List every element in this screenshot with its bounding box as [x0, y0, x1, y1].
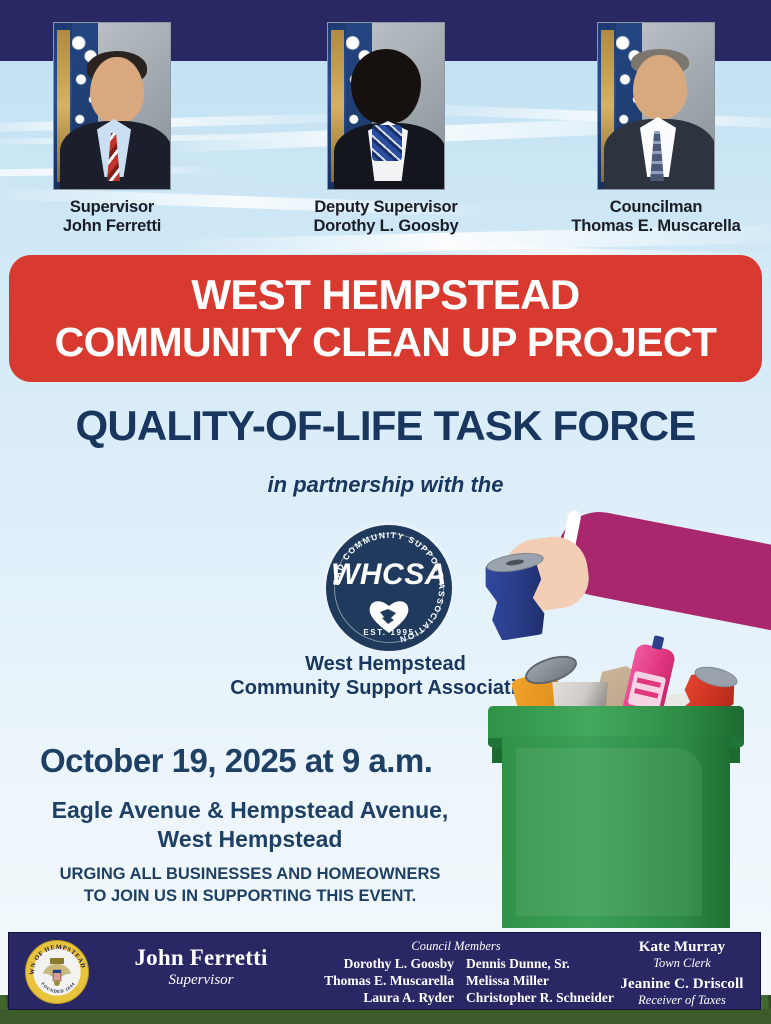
event-date: October 19, 2025 at 9 a.m. [40, 742, 432, 780]
banner-line-1: WEST HEMPSTEAD [191, 271, 579, 319]
official-label: Councilman Thomas E. Muscarella [556, 198, 756, 236]
logo-established: EST. 1995 [323, 628, 455, 637]
green-bin-body [502, 736, 730, 928]
portrait-thomas-muscarella [597, 22, 715, 190]
table-row: Thomas E. Muscarella Melissa Miller [291, 972, 621, 989]
taskforce-heading: QUALITY-OF-LIFE TASK FORCE [0, 402, 771, 450]
eagle-crest-icon [40, 955, 74, 989]
footer-supervisor-name: John Ferretti [101, 945, 301, 971]
official-title: Deputy Supervisor [294, 198, 478, 217]
clerk-title: Town Clerk [605, 956, 759, 971]
portrait-dorothy-goosby [327, 22, 445, 190]
bottle-label [627, 671, 666, 711]
clerk-title: Receiver of Taxes [605, 993, 759, 1008]
event-address: Eagle Avenue & Hempstead Avenue, West He… [20, 796, 480, 855]
council-member: Dennis Dunne, Sr. [456, 955, 621, 972]
poster-flyer: Supervisor John Ferretti Deputy Supervis… [0, 0, 771, 1024]
official-label: Deputy Supervisor Dorothy L. Goosby [294, 198, 478, 236]
address-line-1: Eagle Avenue & Hempstead Avenue, [20, 796, 480, 825]
town-footer-bar: TOWN OF HEMPSTEAD N.Y. FOUNDED 1644 John… [8, 932, 761, 1010]
official-name: Thomas E. Muscarella [556, 217, 756, 236]
hand-dropping-can-illustration [466, 498, 771, 928]
logo-monogram: WHCSA [323, 558, 455, 592]
table-row: Dorothy L. Goosby Dennis Dunne, Sr. [291, 955, 621, 972]
clerk-name: Kate Murray [605, 939, 759, 956]
cta-line-1: URGING ALL BUSINESSES AND HOMEOWNERS [20, 864, 480, 886]
event-call-to-action: URGING ALL BUSINESSES AND HOMEOWNERS TO … [20, 864, 480, 908]
council-heading: Council Members [291, 939, 621, 954]
official-card-supervisor: Supervisor John Ferretti [22, 22, 202, 236]
official-title: Supervisor [22, 198, 202, 217]
council-table: Dorothy L. Goosby Dennis Dunne, Sr. Thom… [291, 955, 621, 1006]
official-name: Dorothy L. Goosby [294, 217, 478, 236]
footer-supervisor-title: Supervisor [101, 972, 301, 989]
council-member: Dorothy L. Goosby [291, 955, 456, 972]
official-name: John Ferretti [22, 217, 202, 236]
portrait-john-ferretti [53, 22, 171, 190]
footer-clerks: Kate Murray Town Clerk Jeanine C. Drisco… [605, 939, 759, 1008]
official-card-deputy-supervisor: Deputy Supervisor Dorothy L. Goosby [294, 22, 478, 236]
whcsa-logo: WEST HEMPSTEAD COMMUNITY SUPPORT ASSOCIA… [323, 522, 455, 654]
cta-line-2: TO JOIN US IN SUPPORTING THIS EVENT. [20, 886, 480, 908]
council-member: Thomas E. Muscarella [291, 972, 456, 989]
council-member: Melissa Miller [456, 972, 621, 989]
banner-line-2: COMMUNITY CLEAN UP PROJECT [55, 319, 717, 366]
council-member: Christopher R. Schneider [456, 989, 621, 1006]
council-member: Laura A. Ryder [291, 989, 456, 1006]
official-label: Supervisor John Ferretti [22, 198, 202, 236]
official-card-councilman: Councilman Thomas E. Muscarella [556, 22, 756, 236]
table-row: Laura A. Ryder Christopher R. Schneider [291, 989, 621, 1006]
event-title-banner: WEST HEMPSTEAD COMMUNITY CLEAN UP PROJEC… [9, 255, 762, 382]
footer-supervisor: John Ferretti Supervisor [101, 945, 301, 989]
clerk-name: Jeanine C. Driscoll [605, 976, 759, 993]
footer-council-members: Council Members Dorothy L. Goosby Dennis… [291, 939, 621, 1006]
partnership-subheading: in partnership with the [0, 472, 771, 498]
address-line-2: West Hempstead [20, 825, 480, 854]
officials-row: Supervisor John Ferretti Deputy Supervis… [0, 0, 771, 250]
official-title: Councilman [556, 198, 756, 217]
town-seal-icon: TOWN OF HEMPSTEAD N.Y. FOUNDED 1644 [25, 940, 89, 1004]
